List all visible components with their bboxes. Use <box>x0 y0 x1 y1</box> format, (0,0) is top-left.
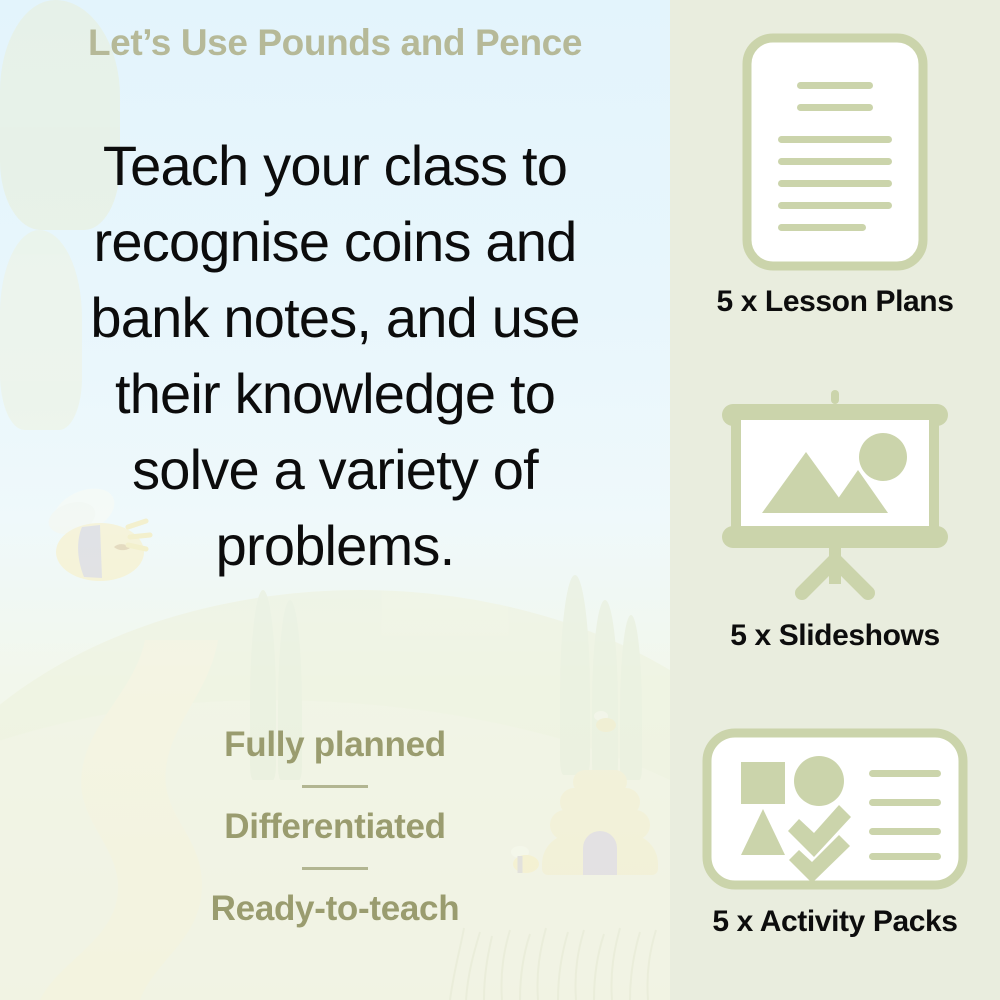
projector-screen-icon <box>670 390 1000 605</box>
left-panel: Let’s Use Pounds and Pence Teach your cl… <box>0 0 670 1000</box>
feature-item-differentiated: Differentiated <box>0 804 670 850</box>
resource-item-lesson-plans: 5 x Lesson Plans <box>670 30 1000 319</box>
feature-item-fully-planned: Fully planned <box>0 722 670 768</box>
feature-item-ready-to-teach: Ready-to-teach <box>0 886 670 932</box>
resource-label-slideshows: 5 x Slideshows <box>670 619 1000 653</box>
resource-item-activity-packs: 5 x Activity Packs <box>670 725 1000 939</box>
resource-label-activity-packs: 5 x Activity Packs <box>670 905 1000 939</box>
divider <box>302 867 368 870</box>
poster-root: Let’s Use Pounds and Pence Teach your cl… <box>0 0 1000 1000</box>
document-icon <box>670 30 1000 275</box>
right-panel: 5 x Lesson Plans <box>670 0 1000 1000</box>
feature-list: Fully planned Differentiated Ready-to-te… <box>0 722 670 932</box>
resource-item-slideshows: 5 x Slideshows <box>670 390 1000 653</box>
divider <box>302 785 368 788</box>
body-copy: Teach your class to recognise coins and … <box>48 128 622 584</box>
resource-label-lesson-plans: 5 x Lesson Plans <box>670 285 1000 319</box>
page-title: Let’s Use Pounds and Pence <box>0 22 670 64</box>
activity-card-icon <box>670 725 1000 893</box>
